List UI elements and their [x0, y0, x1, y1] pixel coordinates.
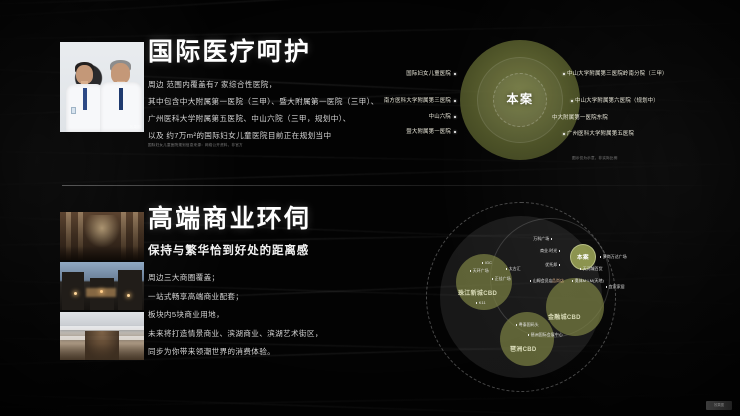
- commerce-body-line-2: 一站式畅享高端商业配套；: [148, 293, 418, 301]
- hospital-label-right-1-text: 中山大学附属第三医院岭南分院（三甲）: [567, 71, 668, 77]
- medical-chart-footnote: 图示仅为示意，非实际比例: [572, 156, 618, 161]
- hospital-label-right-2-text: 中山大学附属第六医院（规划中）: [575, 98, 659, 104]
- poi-yuetai-wharf-label: 粤泰国码头: [519, 322, 539, 327]
- poi-k11-label: K11: [479, 300, 486, 305]
- hospital-label-left-3: 中山六院: [330, 112, 458, 120]
- commerce-body-line-1: 周边三大商圈覆盖；: [148, 274, 418, 282]
- poi-sams-club-label: 山姆会员店: [533, 278, 553, 283]
- poi-luogang-wanda: 萝岗万达广场: [598, 254, 627, 260]
- poi-k11: K11: [474, 300, 486, 305]
- poi-taikoohui: 太古汇: [504, 266, 521, 272]
- hospital-label-right-2: 中山大学附属第六医院（规划中）: [568, 96, 659, 104]
- poi-tianhe-dept: 天河城百货: [578, 266, 603, 272]
- hospital-label-left-3-text: 中山六院: [429, 114, 451, 120]
- cbd-name-zhujiang: 珠江新城CBD: [458, 288, 497, 297]
- poi-luogang-wanda-label: 萝岗万达广场: [603, 254, 627, 259]
- commerce-photo-stack: [60, 212, 144, 362]
- poi-igc-label: IGC: [485, 260, 492, 265]
- cbd-name-pazhou: 琶洲CBD: [510, 344, 537, 353]
- poi-tianhe-dept-label: 天河城百货: [583, 266, 603, 271]
- doctor-senior: [100, 54, 142, 132]
- poi-pazhou-expo-label: 琶洲国际会展中心: [531, 332, 563, 337]
- poi-ikea-label: 宜家家居: [609, 284, 625, 289]
- slide-root: 效果图 国际医疗呵护 周边 范围内覆盖有7 家综合性医院， 其中包含中大附属第一…: [0, 0, 740, 416]
- poi-zhengjia: 正佳广场: [490, 276, 511, 282]
- commerce-bubble-chart: 本案 珠江新城CBD 金融城CBD 琶洲CBD IGC 天环广场 太古汇 正佳广…: [418, 196, 628, 396]
- hospital-label-right-3-text: 中大附属第一医院东院: [552, 115, 608, 121]
- photo-caption: 效果图: [130, 125, 141, 130]
- medical-title: 国际医疗呵护: [148, 40, 408, 65]
- commerce-subtitle: 保持与繁华恰到好处的距离感: [148, 242, 418, 258]
- poi-aoti-mlm: 奥体M·LM(天地): [570, 278, 604, 284]
- commerce-photo-arcade: [60, 212, 144, 260]
- poi-shangye-shiguang-label: 商业.时光: [540, 248, 557, 253]
- poi-taikoohui-label: 太古汇: [509, 266, 521, 271]
- hospital-label-right-1: 中山大学附属第三医院岭南分院（三甲）: [560, 69, 668, 77]
- hospital-label-left-2-text: 南方医科大学附属第三医院: [384, 98, 451, 104]
- poi-pinshang: 品尚店: [552, 278, 564, 284]
- medical-photo: 效果图: [60, 42, 144, 132]
- watermark-label: 效果图: [706, 401, 732, 410]
- cbd-blob-jinrong: [546, 278, 604, 336]
- poi-sams-club: 山姆会员店: [528, 278, 553, 284]
- poi-vanke-plaza-label: 万科广场: [533, 236, 549, 241]
- watermark-badge: 效果图: [706, 401, 732, 410]
- commerce-body-line-4: 未来将打造情景商业、滨湖商业、滨湖艺术街区，: [148, 330, 418, 338]
- hospital-label-left-1: 国际妇女儿童医院: [330, 69, 458, 77]
- poi-tianhuan: 天环广场: [468, 268, 489, 274]
- poi-pazhou-expo: 琶洲国际会展中心: [526, 332, 563, 338]
- poi-vanke-plaza: 万科广场: [510, 236, 554, 242]
- commerce-title: 高端商业环伺: [148, 207, 418, 232]
- poi-utopia: 优托邦: [522, 262, 562, 268]
- medical-footnote: 国际妇女儿童医院规划信息来源：网络公开资料，非官方: [148, 143, 408, 148]
- poi-utopia-label: 优托邦: [545, 262, 557, 267]
- medical-body-line-1: 周边 范围内覆盖有7 家综合性医院，: [148, 81, 408, 89]
- hospital-label-right-4-text: 广州医科大学附属第五医院: [567, 131, 634, 137]
- commerce-photo-mall: [60, 312, 144, 360]
- hospital-label-left-2: 南方医科大学附属第三医院: [272, 96, 458, 104]
- commerce-photo-street: [60, 262, 144, 310]
- hospital-label-right-3: 中大附属第一医院东院: [552, 113, 608, 121]
- poi-zhengjia-label: 正佳广场: [495, 276, 511, 281]
- poi-shangye-shiguang: 商业.时光: [522, 248, 562, 254]
- hospital-label-left-4: 暨大附属第一医院: [300, 127, 458, 135]
- poi-yuetai-wharf: 粤泰国码头: [514, 322, 539, 328]
- poi-ikea: 宜家家居: [604, 284, 625, 290]
- poi-aoti-mlm-label: 奥体M·LM(天地): [575, 278, 604, 283]
- cbd-blob-pazhou: [500, 312, 554, 366]
- commerce-text-block: 高端商业环伺 保持与繁华恰到好处的距离感 周边三大商圈覆盖； 一站式畅享高端商业…: [148, 207, 418, 365]
- cbd-name-jinrong: 金融城CBD: [548, 312, 581, 321]
- section-divider: [62, 185, 722, 186]
- medical-bubble-chart: 本案: [460, 40, 580, 160]
- commerce-body-line-5: 同步为你带来领潮世界的消费体验。: [148, 348, 418, 356]
- poi-igc: IGC: [480, 260, 492, 265]
- poi-pinshang-label: 品尚店: [552, 278, 564, 283]
- hospital-label-left-1-text: 国际妇女儿童医院: [406, 71, 451, 77]
- poi-tianhuan-label: 天环广场: [473, 268, 489, 273]
- commerce-center-label: 本案: [577, 253, 589, 261]
- hospital-label-right-4: 广州医科大学附属第五医院: [560, 129, 634, 137]
- doctor-young: [66, 60, 104, 132]
- bubble-center-label: 本案: [460, 90, 580, 107]
- hospital-label-left-4-text: 暨大附属第一医院: [406, 129, 451, 135]
- commerce-body-line-3: 板块内5块商业用地，: [148, 311, 418, 319]
